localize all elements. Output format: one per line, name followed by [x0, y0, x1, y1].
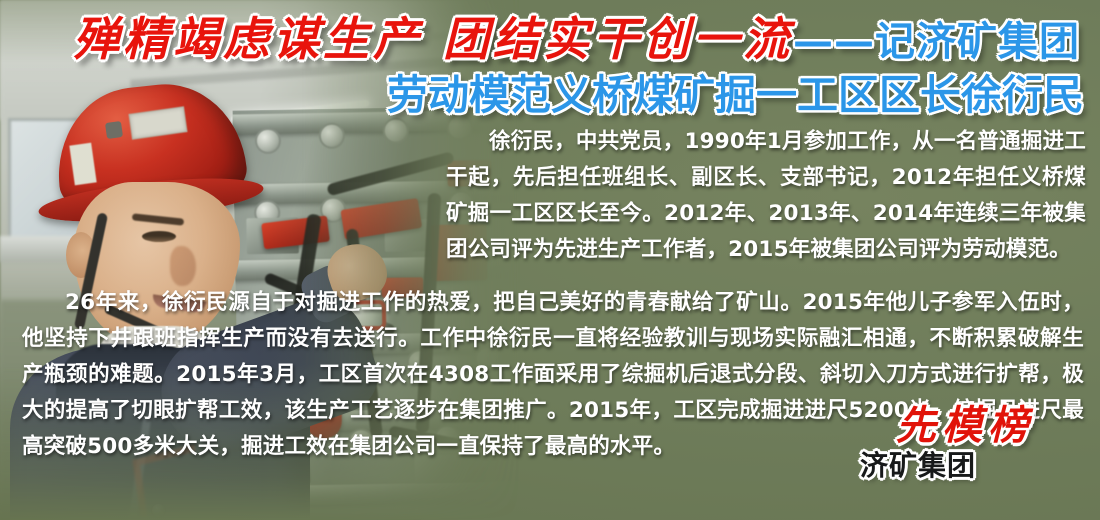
- headline-line-2: 劳动模范义桥煤矿掘一工区区长徐衍民: [60, 70, 1084, 120]
- headline-calligraphy-text: 殚精竭虑谋生产 团结实干创一流: [73, 12, 793, 66]
- headline-line-1: 殚精竭虑谋生产 团结实干创一流——记济矿集团: [60, 8, 1080, 70]
- helmet-lamp-clip: [105, 121, 123, 139]
- stamp-company-text: 济矿集团: [860, 446, 1026, 486]
- article-paragraph-1-text: 徐衍民，中共党员，1990年1月参加工作，从一名普通掘进工干起，先后担任班组长、…: [446, 124, 1086, 268]
- poster-root: 殚精竭虑谋生产 团结实干创一流——记济矿集团 劳动模范义桥煤矿掘一工区区长徐衍民…: [0, 0, 1100, 520]
- worker-eye: [142, 231, 176, 242]
- headline-attribution-text: ——记济矿集团: [793, 19, 1080, 65]
- brand-stamp: 先模榜 济矿集团: [860, 398, 1080, 490]
- article-paragraph-1: 徐衍民，中共党员，1990年1月参加工作，从一名普通掘进工干起，先后担任班组长、…: [446, 124, 1086, 268]
- headline-subject-text: 劳动模范义桥煤矿掘一工区区长徐衍民: [387, 71, 1084, 119]
- worker-nose: [170, 246, 196, 286]
